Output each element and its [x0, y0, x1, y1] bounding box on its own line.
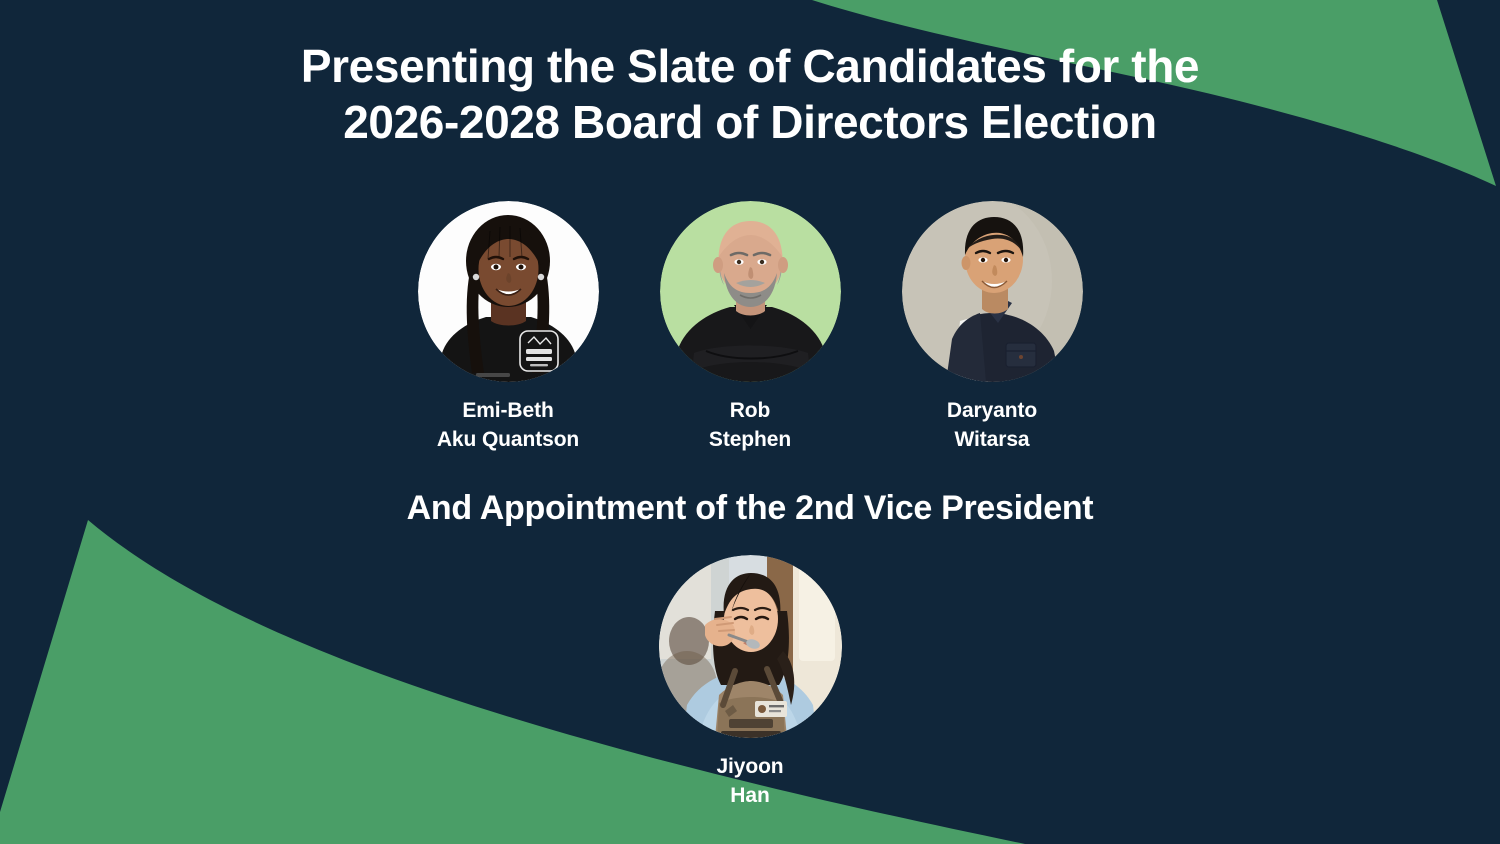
slide-title-line-1: Presenting the Slate of Candidates for t…: [0, 38, 1500, 94]
candidate-name-line-2: Aku Quantson: [437, 426, 579, 455]
candidate-name: Rob Stephen: [709, 397, 791, 454]
slide-title-line-2: 2026-2028 Board of Directors Election: [0, 94, 1500, 150]
candidate-name-line-1: Daryanto: [947, 397, 1037, 426]
candidate-name-line-2: Han: [716, 782, 783, 811]
candidate-name-line-2: Witarsa: [947, 426, 1037, 455]
slide-title: Presenting the Slate of Candidates for t…: [0, 38, 1500, 150]
candidate-name: Daryanto Witarsa: [947, 397, 1037, 454]
portrait-rob-stephen: [660, 201, 841, 382]
slide-subtitle: And Appointment of the 2nd Vice Presiden…: [0, 486, 1500, 530]
candidate-name-line-1: Emi-Beth: [437, 397, 579, 426]
candidate-name-line-2: Stephen: [709, 426, 791, 455]
candidate-name: Emi-Beth Aku Quantson: [437, 397, 579, 454]
board-candidate-list: Emi-Beth Aku Quantson: [0, 201, 1500, 454]
slide-subtitle-line-1: And Appointment of the 2nd Vice Presiden…: [0, 486, 1500, 530]
portrait-emi-beth-aku-quantson: [418, 201, 599, 382]
candidate-name: Jiyoon Han: [716, 753, 783, 810]
portrait-jiyoon-han: [659, 555, 842, 738]
portrait-daryanto-witarsa: [902, 201, 1083, 382]
candidate-card: Emi-Beth Aku Quantson: [418, 201, 599, 454]
vice-president-list: Jiyoon Han: [0, 555, 1500, 810]
candidate-name-line-1: Jiyoon: [716, 753, 783, 782]
candidate-card: Jiyoon Han: [659, 555, 842, 810]
presentation-slide: Presenting the Slate of Candidates for t…: [0, 0, 1500, 844]
candidate-card: Rob Stephen: [660, 201, 841, 454]
candidate-card: Daryanto Witarsa: [902, 201, 1083, 454]
candidate-name-line-1: Rob: [709, 397, 791, 426]
